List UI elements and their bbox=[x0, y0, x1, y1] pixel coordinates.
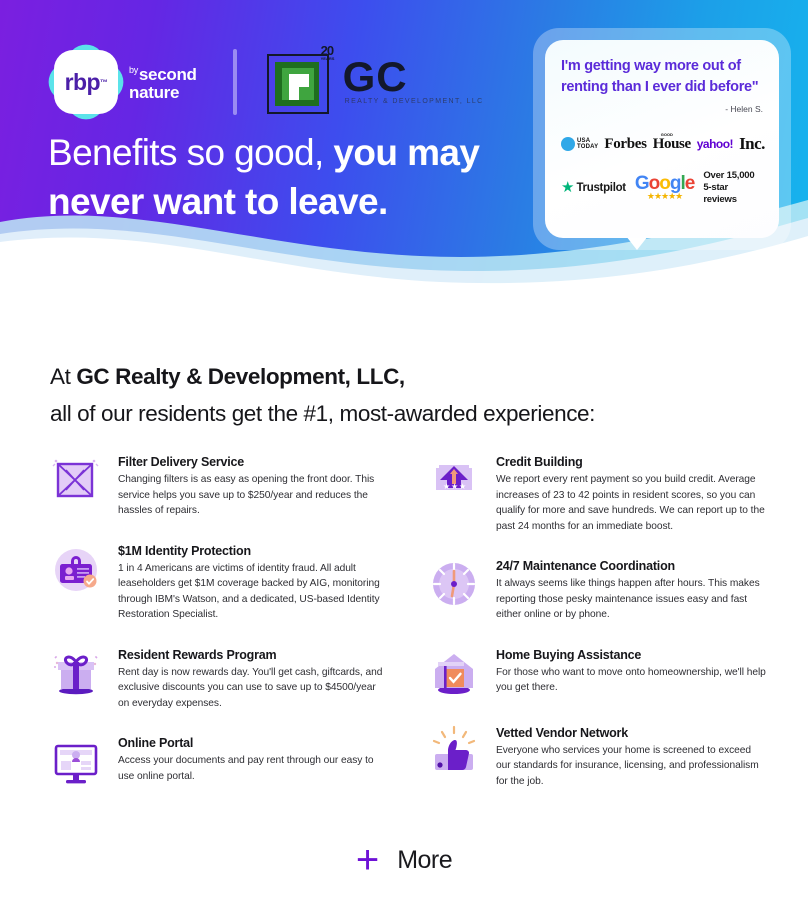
good-housekeeping-superscript: GOOD bbox=[661, 132, 673, 137]
inc-logo: Inc. bbox=[739, 134, 765, 154]
gc-square-inner-icon bbox=[289, 74, 309, 87]
trustpilot-logo: ★ Trustpilot bbox=[561, 180, 626, 195]
good-housekeeping-logo: GOODHouse bbox=[653, 136, 691, 153]
benefit-description: Rent day is now rewards day. You'll get … bbox=[118, 665, 388, 712]
rbp-logo: rbp™ bbox=[48, 44, 124, 120]
benefit-description: We report every rent payment so you buil… bbox=[496, 472, 766, 534]
usa-today-logo: USA TODAY bbox=[561, 137, 598, 151]
gc-realty-logo: 20YEARS GC REALTY & DEVELOPMENT, LLC bbox=[265, 44, 465, 120]
logo-row: rbp™ bysecond nature 20YEARS GC REALTY &… bbox=[48, 42, 465, 122]
gc-square-notch-icon bbox=[289, 87, 299, 100]
rbp-trademark: ™ bbox=[100, 78, 107, 87]
benefit-title: Credit Building bbox=[496, 455, 766, 469]
benefits-column-left: Filter Delivery Service Changing filters… bbox=[48, 452, 388, 811]
benefit-text: Online Portal Access your documents and … bbox=[118, 733, 388, 789]
benefit-filter-delivery-service: Filter Delivery Service Changing filters… bbox=[48, 452, 388, 519]
headline-bold-1: you may bbox=[324, 132, 480, 173]
testimonial-card: I'm getting way more out of renting than… bbox=[545, 40, 779, 238]
yahoo-logo: yahoo! bbox=[697, 137, 733, 151]
benefit-description: It always seems like things happen after… bbox=[496, 576, 766, 623]
page-title: At GC Realty & Development, LLC, all of … bbox=[50, 358, 750, 432]
by-label: by bbox=[129, 66, 138, 75]
testimonial-card-tail bbox=[626, 236, 648, 250]
id-badge-icon bbox=[48, 541, 104, 597]
benefit-title: Vetted Vendor Network bbox=[496, 726, 766, 740]
section-line1-bold: GC Realty & Development, LLC, bbox=[76, 364, 404, 389]
second-nature-wordmark: bysecond nature bbox=[129, 62, 197, 101]
forbes-logo: Forbes bbox=[604, 136, 646, 153]
nature-label: nature bbox=[129, 84, 197, 102]
benefit-title: 24/7 Maintenance Coordination bbox=[496, 559, 766, 573]
benefit-title: Resident Rewards Program bbox=[118, 648, 388, 662]
gc-subtitle: REALTY & DEVELOPMENT, LLC bbox=[345, 98, 484, 105]
usa-today-label: USA TODAY bbox=[577, 138, 598, 151]
gc-initials: GC bbox=[343, 56, 408, 98]
more-button[interactable]: + More bbox=[0, 840, 808, 880]
reviews-count: Over 15,000 5-star reviews bbox=[703, 170, 763, 206]
google-e: e bbox=[685, 173, 695, 194]
benefit-title: Filter Delivery Service bbox=[118, 455, 388, 469]
headline-light: Benefits so good, bbox=[48, 132, 324, 173]
reviews-count-line2: 5-star reviews bbox=[703, 182, 736, 205]
benefit-text: Home Buying Assistance For those who wan… bbox=[496, 645, 766, 701]
svg-text:★: ★ bbox=[451, 482, 458, 491]
benefits-columns: Filter Delivery Service Changing filters… bbox=[48, 452, 768, 811]
benefit-credit-building: ★ ★ ★ Credit Building We report every re… bbox=[426, 452, 766, 534]
benefit-title: $1M Identity Protection bbox=[118, 544, 388, 558]
benefit-vetted-vendor-network: Vetted Vendor Network Everyone who servi… bbox=[426, 723, 766, 790]
gc-anniversary-sub: YEARS bbox=[321, 57, 335, 61]
plus-icon: + bbox=[356, 840, 379, 880]
air-filter-icon bbox=[48, 452, 104, 508]
benefit-text: Resident Rewards Program Rent day is now… bbox=[118, 645, 388, 712]
benefit-home-buying-assistance: Home Buying Assistance For those who wan… bbox=[426, 645, 766, 701]
benefit-description: For those who want to move onto homeowne… bbox=[496, 665, 766, 696]
reviews-count-line1: Over 15,000 bbox=[703, 170, 754, 181]
benefit-title: Online Portal bbox=[118, 736, 388, 750]
monitor-portal-icon bbox=[48, 733, 104, 789]
rbp-wordmark: rbp™ bbox=[48, 44, 124, 120]
benefit-resident-rewards-program: Resident Rewards Program Rent day is now… bbox=[48, 645, 388, 712]
logo-divider bbox=[233, 49, 237, 115]
clock-icon bbox=[426, 556, 482, 612]
usa-today-line2: TODAY bbox=[577, 144, 598, 150]
benefit-online-portal: Online Portal Access your documents and … bbox=[48, 733, 388, 789]
more-label: More bbox=[397, 846, 452, 875]
benefit-description: Everyone who services your home is scree… bbox=[496, 743, 766, 790]
benefit-description: 1 in 4 Americans are victims of identity… bbox=[118, 561, 388, 623]
benefit-text: 24/7 Maintenance Coordination It always … bbox=[496, 556, 766, 623]
good-housekeeping-label: House bbox=[653, 136, 691, 152]
benefit-text: Credit Building We report every rent pay… bbox=[496, 452, 766, 534]
house-check-icon bbox=[426, 645, 482, 701]
svg-text:★: ★ bbox=[459, 482, 466, 491]
testimonial-quote: I'm getting way more out of renting than… bbox=[561, 56, 763, 97]
benefit-text: Vetted Vendor Network Everyone who servi… bbox=[496, 723, 766, 790]
testimonial-author: - Helen S. bbox=[561, 104, 763, 114]
gc-anniversary: 20YEARS bbox=[321, 44, 335, 61]
section-line1-prefix: At bbox=[50, 364, 76, 389]
gift-box-icon bbox=[48, 645, 104, 701]
section-line2: all of our residents get the #1, most-aw… bbox=[50, 401, 595, 426]
credit-badge-icon: ★ ★ ★ bbox=[426, 452, 482, 508]
trustpilot-label: Trustpilot bbox=[576, 182, 625, 194]
media-logos-row: USA TODAY Forbes GOODHouse yahoo! Inc. bbox=[561, 134, 763, 154]
benefit-description: Access your documents and pay rent throu… bbox=[118, 753, 388, 784]
benefits-column-right: ★ ★ ★ Credit Building We report every re… bbox=[426, 452, 766, 811]
usa-today-line1: USA bbox=[577, 138, 590, 144]
benefit-description: Changing filters is as easy as opening t… bbox=[118, 472, 388, 519]
usa-today-dot-icon bbox=[561, 137, 575, 151]
hero-banner: rbp™ bysecond nature 20YEARS GC REALTY &… bbox=[0, 0, 808, 300]
benefit-maintenance-coordination: 24/7 Maintenance Coordination It always … bbox=[426, 556, 766, 623]
second-label: second bbox=[139, 65, 197, 84]
google-logo: Google ★★★★★ bbox=[635, 174, 694, 201]
reviews-row: ★ Trustpilot Google ★★★★★ Over 15,000 5-… bbox=[561, 170, 763, 206]
benefit-identity-protection: $1M Identity Protection 1 in 4 Americans… bbox=[48, 541, 388, 623]
benefit-text: Filter Delivery Service Changing filters… bbox=[118, 452, 388, 519]
trustpilot-star-icon: ★ bbox=[561, 180, 574, 195]
benefit-title: Home Buying Assistance bbox=[496, 648, 766, 662]
benefit-text: $1M Identity Protection 1 in 4 Americans… bbox=[118, 541, 388, 623]
thumbs-up-icon bbox=[426, 723, 482, 779]
svg-text:★: ★ bbox=[443, 482, 450, 491]
